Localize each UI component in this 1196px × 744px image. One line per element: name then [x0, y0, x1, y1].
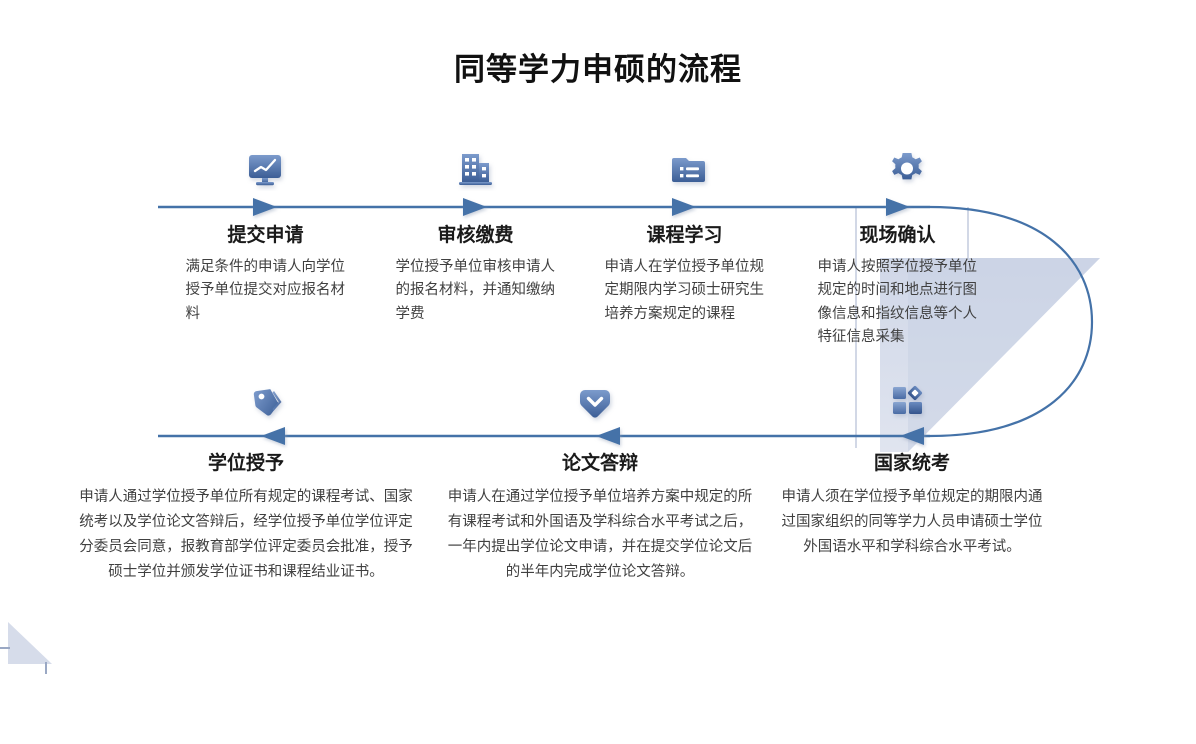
node-description: 申请人通过学位授予单位所有规定的课程考试、国家统考以及学位论文答辩后，经学位授予… — [74, 485, 419, 585]
node-title: 审核缴费 — [388, 224, 563, 248]
node-title: 现场确认 — [810, 224, 985, 248]
infographic-canvas: 同等学力申硕的流程 — [0, 0, 1196, 744]
flow-node-1: 提交申请 满足条件的申请人向学位授予单位提交对应报名材料 — [178, 224, 353, 326]
node-description: 满足条件的申请人向学位授予单位提交对应报名材料 — [186, 256, 346, 326]
flow-node-3: 课程学习 申请人在学位授予单位规定期限内学习硕士研究生培养方案规定的课程 — [597, 224, 772, 326]
node-title: 课程学习 — [597, 224, 772, 248]
flow-node-5: 学位授予 申请人通过学位授予单位所有规定的课程考试、国家统考以及学位论文答辩后，… — [46, 452, 446, 585]
building-icon — [453, 147, 497, 191]
node-description: 学位授予单位审核申请人的报名材料，并通知缴纳学费 — [396, 256, 556, 326]
node-title: 提交申请 — [178, 224, 353, 248]
monitor-chart-icon — [243, 147, 287, 191]
node-description: 申请人在学位授予单位规定期限内学习硕士研究生培养方案规定的课程 — [605, 256, 765, 326]
node-title: 国家统考 — [752, 452, 1072, 476]
flow-node-2: 审核缴费 学位授予单位审核申请人的报名材料，并通知缴纳学费 — [388, 224, 563, 326]
node-title: 论文答辩 — [410, 452, 790, 476]
flow-node-7: 国家统考 申请人须在学位授予单位规定的期限内通过国家组织的同等学力人员申请硕士学… — [752, 452, 1072, 560]
node-title: 学位授予 — [46, 452, 446, 476]
bottom-flow-line — [158, 427, 930, 445]
node-description: 申请人须在学位授予单位规定的期限内通过国家组织的同等学力人员申请硕士学位外国语水… — [776, 485, 1048, 560]
page-title: 同等学力申硕的流程 — [0, 44, 1196, 89]
tag-icon — [243, 380, 287, 424]
corner-decoration — [0, 622, 52, 674]
folder-list-icon — [667, 147, 711, 191]
top-flow-line — [158, 198, 930, 216]
node-description: 申请人在通过学位授予单位培养方案中规定的所有课程考试和外国语及学科综合水平考试之… — [441, 485, 759, 585]
flow-node-6: 论文答辩 申请人在通过学位授予单位培养方案中规定的所有课程考试和外国语及学科综合… — [410, 452, 790, 585]
flow-skeleton — [0, 0, 1196, 744]
flow-node-4: 现场确认 申请人按照学位授予单位规定的时间和地点进行图像信息和指纹信息等个人特征… — [810, 224, 985, 350]
node-description: 申请人按照学位授予单位规定的时间和地点进行图像信息和指纹信息等个人特征信息采集 — [818, 256, 978, 350]
gear-icon — [885, 147, 929, 191]
blocks-diamond-icon — [885, 378, 929, 422]
badge-chevron-down-icon — [573, 380, 617, 424]
